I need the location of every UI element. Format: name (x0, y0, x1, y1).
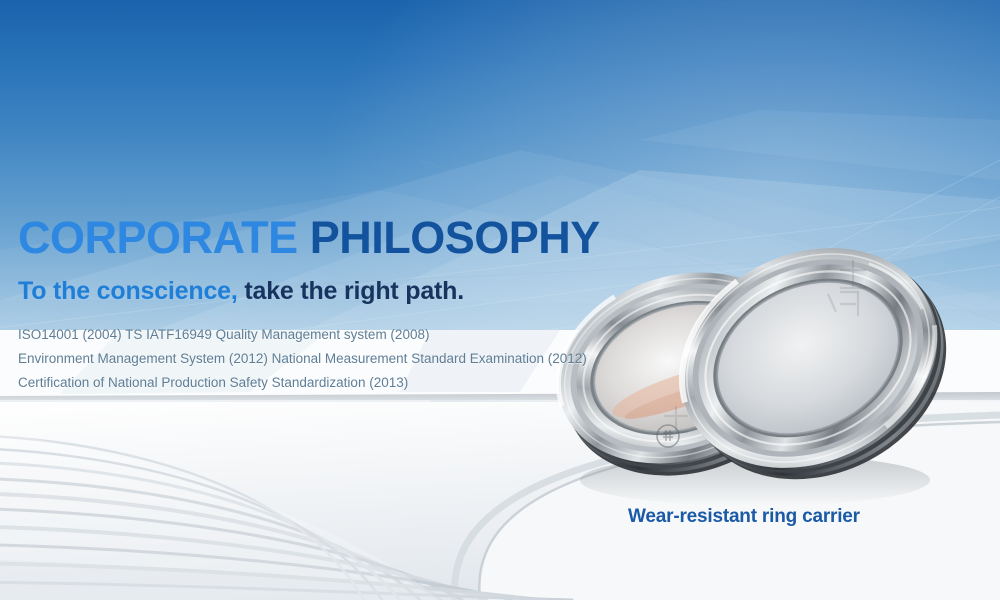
certification-line: Environment Management System (2012) Nat… (18, 347, 638, 371)
headline-text-block: CORPORATE PHILOSOPHY To the conscience, … (18, 212, 638, 395)
page-subtitle: To the conscience, take the right path. (18, 276, 638, 306)
subheadline-part-two: take the right path. (244, 277, 464, 305)
certification-list: ISO14001 (2004) TS IATF16949 Quality Man… (18, 323, 638, 395)
subheadline-part-one: To the conscience, (18, 277, 238, 305)
headline-part-one: CORPORATE (18, 212, 298, 263)
headline-part-two: PHILOSOPHY (310, 212, 600, 263)
page-title: CORPORATE PHILOSOPHY (18, 212, 638, 264)
product-caption: Wear-resistant ring carrier (628, 506, 860, 528)
certification-line: ISO14001 (2004) TS IATF16949 Quality Man… (18, 323, 638, 347)
certification-line: Certification of National Production Saf… (18, 371, 638, 395)
corporate-philosophy-banner: CORPORATE PHILOSOPHY To the conscience, … (0, 0, 1000, 600)
